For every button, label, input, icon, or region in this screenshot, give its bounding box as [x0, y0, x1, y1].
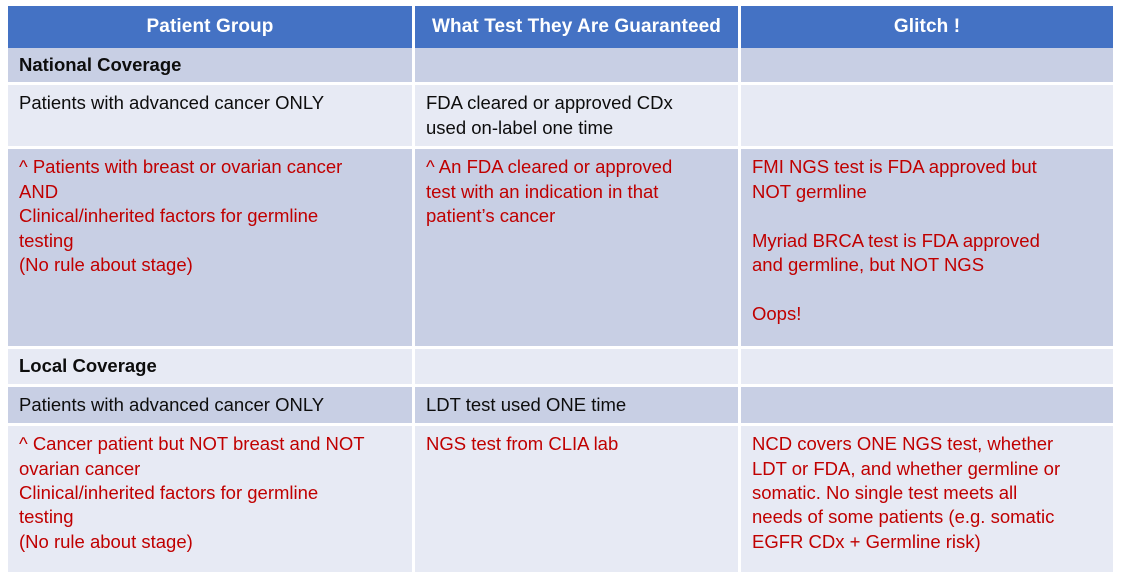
slide-canvas: Patient Group What Test They Are Guarant… [0, 0, 1121, 575]
cell-section-local-glitch [741, 349, 1113, 386]
cell-national-germline-patient-group: ^ Patients with breast or ovarian cancer… [8, 149, 415, 349]
cell-local-advanced-glitch [741, 387, 1113, 426]
cell-national-advanced-test: FDA cleared or approved CDx used on-labe… [415, 85, 741, 149]
header-glitch: Glitch ! [741, 6, 1113, 48]
table-row-local-germline: ^ Cancer patient but NOT breast and NOT … [8, 426, 1113, 572]
table-body: National Coverage Patients with advanced… [8, 48, 1113, 572]
cell-local-advanced-test: LDT test used ONE time [415, 387, 741, 426]
table-row-section-local-coverage: Local Coverage [8, 349, 1113, 386]
cell-national-advanced-glitch [741, 85, 1113, 149]
table-header-row: Patient Group What Test They Are Guarant… [8, 6, 1113, 48]
cell-section-label-national: National Coverage [8, 48, 415, 85]
cell-section-national-glitch [741, 48, 1113, 85]
table-row-section-national-coverage: National Coverage [8, 48, 1113, 85]
cell-local-germline-patient-group: ^ Cancer patient but NOT breast and NOT … [8, 426, 415, 572]
cell-local-germline-glitch: NCD covers ONE NGS test, whether LDT or … [741, 426, 1113, 572]
coverage-comparison-table: Patient Group What Test They Are Guarant… [8, 6, 1113, 572]
cell-national-germline-test: ^ An FDA cleared or approved test with a… [415, 149, 741, 349]
cell-section-local-test [415, 349, 741, 386]
cell-national-germline-glitch: FMI NGS test is FDA approved but NOT ger… [741, 149, 1113, 349]
table-header: Patient Group What Test They Are Guarant… [8, 6, 1113, 48]
header-what-test: What Test They Are Guaranteed [415, 6, 741, 48]
cell-section-national-test [415, 48, 741, 85]
table-row-national-advanced-cancer: Patients with advanced cancer ONLY FDA c… [8, 85, 1113, 149]
table-row-local-advanced-cancer: Patients with advanced cancer ONLY LDT t… [8, 387, 1113, 426]
header-patient-group: Patient Group [8, 6, 415, 48]
cell-section-label-local: Local Coverage [8, 349, 415, 386]
table-row-national-germline: ^ Patients with breast or ovarian cancer… [8, 149, 1113, 349]
cell-local-germline-test: NGS test from CLIA lab [415, 426, 741, 572]
cell-local-advanced-patient-group: Patients with advanced cancer ONLY [8, 387, 415, 426]
cell-national-advanced-patient-group: Patients with advanced cancer ONLY [8, 85, 415, 149]
